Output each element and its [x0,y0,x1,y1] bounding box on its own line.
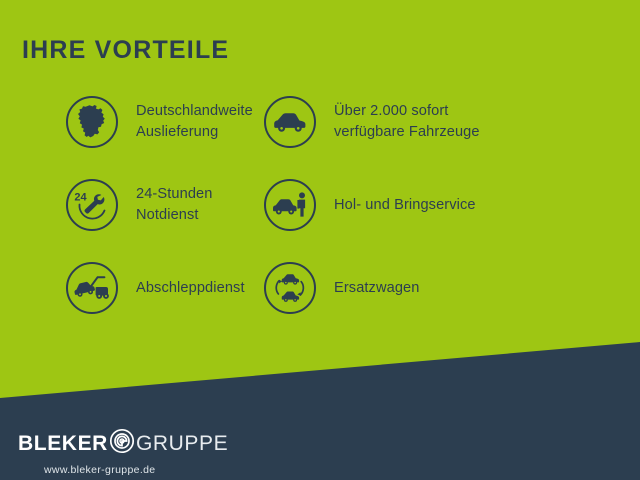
car-with-person-icon [264,179,316,231]
benefit-item-hol-und-bringservice: Hol- und Bringservice [258,175,588,235]
benefit-item-24-stunden-notdienst: 24 24-Stunden Notdienst [0,175,258,235]
benefit-label: Abschleppdienst [136,278,245,299]
benefit-label: Deutschlandweite Auslieferung [136,101,253,142]
logo-text-gruppe: GRUPPE [136,433,228,454]
website-url[interactable]: www.bleker-gruppe.de [44,464,155,476]
germany-map-icon [66,96,118,148]
benefit-line-1: 24-Stunden [136,186,212,202]
benefit-item-abschleppdienst: Abschleppdienst [0,258,258,318]
benefits-row: 24 24-Stunden Notdienst [0,175,640,235]
benefit-line-1: Über 2.000 sofort [334,103,448,119]
benefit-item-deutschlandweite-auslieferung: Deutschlandweite Auslieferung [0,92,258,152]
benefit-line-2: Auslieferung [136,122,253,143]
benefit-label: Über 2.000 sofort verfügbare Fahrzeuge [334,101,480,142]
benefits-row: Abschleppdienst [0,258,640,318]
benefits-row: Deutschlandweite Auslieferung Über 2.000… [0,92,640,152]
benefit-line-2: verfügbare Fahrzeuge [334,122,480,143]
tow-truck-icon [66,262,118,314]
benefit-item-verfuegbare-fahrzeuge: Über 2.000 sofort verfügbare Fahrzeuge [258,92,588,152]
24h-wrench-icon: 24 [66,179,118,231]
benefits-grid: Deutschlandweite Auslieferung Über 2.000… [0,92,640,341]
footer-logo-block[interactable]: BLEKER GRUPPE www.bleker-gruppe.de [18,428,228,476]
logo-text-bleker: BLEKER [18,433,108,454]
benefit-line-1: Hol- und Bringservice [334,197,476,213]
car-icon [264,96,316,148]
benefit-line-2: Notdienst [136,205,212,226]
svg-text:24: 24 [74,192,87,204]
benefit-line-1: Deutschlandweite [136,103,253,119]
benefit-line-1: Ersatzwagen [334,280,419,296]
benefit-line-1: Abschleppdienst [136,280,245,296]
slide-canvas: IHRE VORTEILE Deutschlandweite Ausliefer… [0,0,640,480]
page-title: IHRE VORTEILE [22,38,229,63]
benefit-label: Ersatzwagen [334,278,419,299]
two-cars-exchange-icon [264,262,316,314]
benefit-item-ersatzwagen: Ersatzwagen [258,258,588,318]
logo-lockup: BLEKER GRUPPE [18,428,228,459]
benefit-label: 24-Stunden Notdienst [136,184,212,225]
benefit-label: Hol- und Bringservice [334,195,476,216]
spiral-circle-icon [109,428,135,459]
